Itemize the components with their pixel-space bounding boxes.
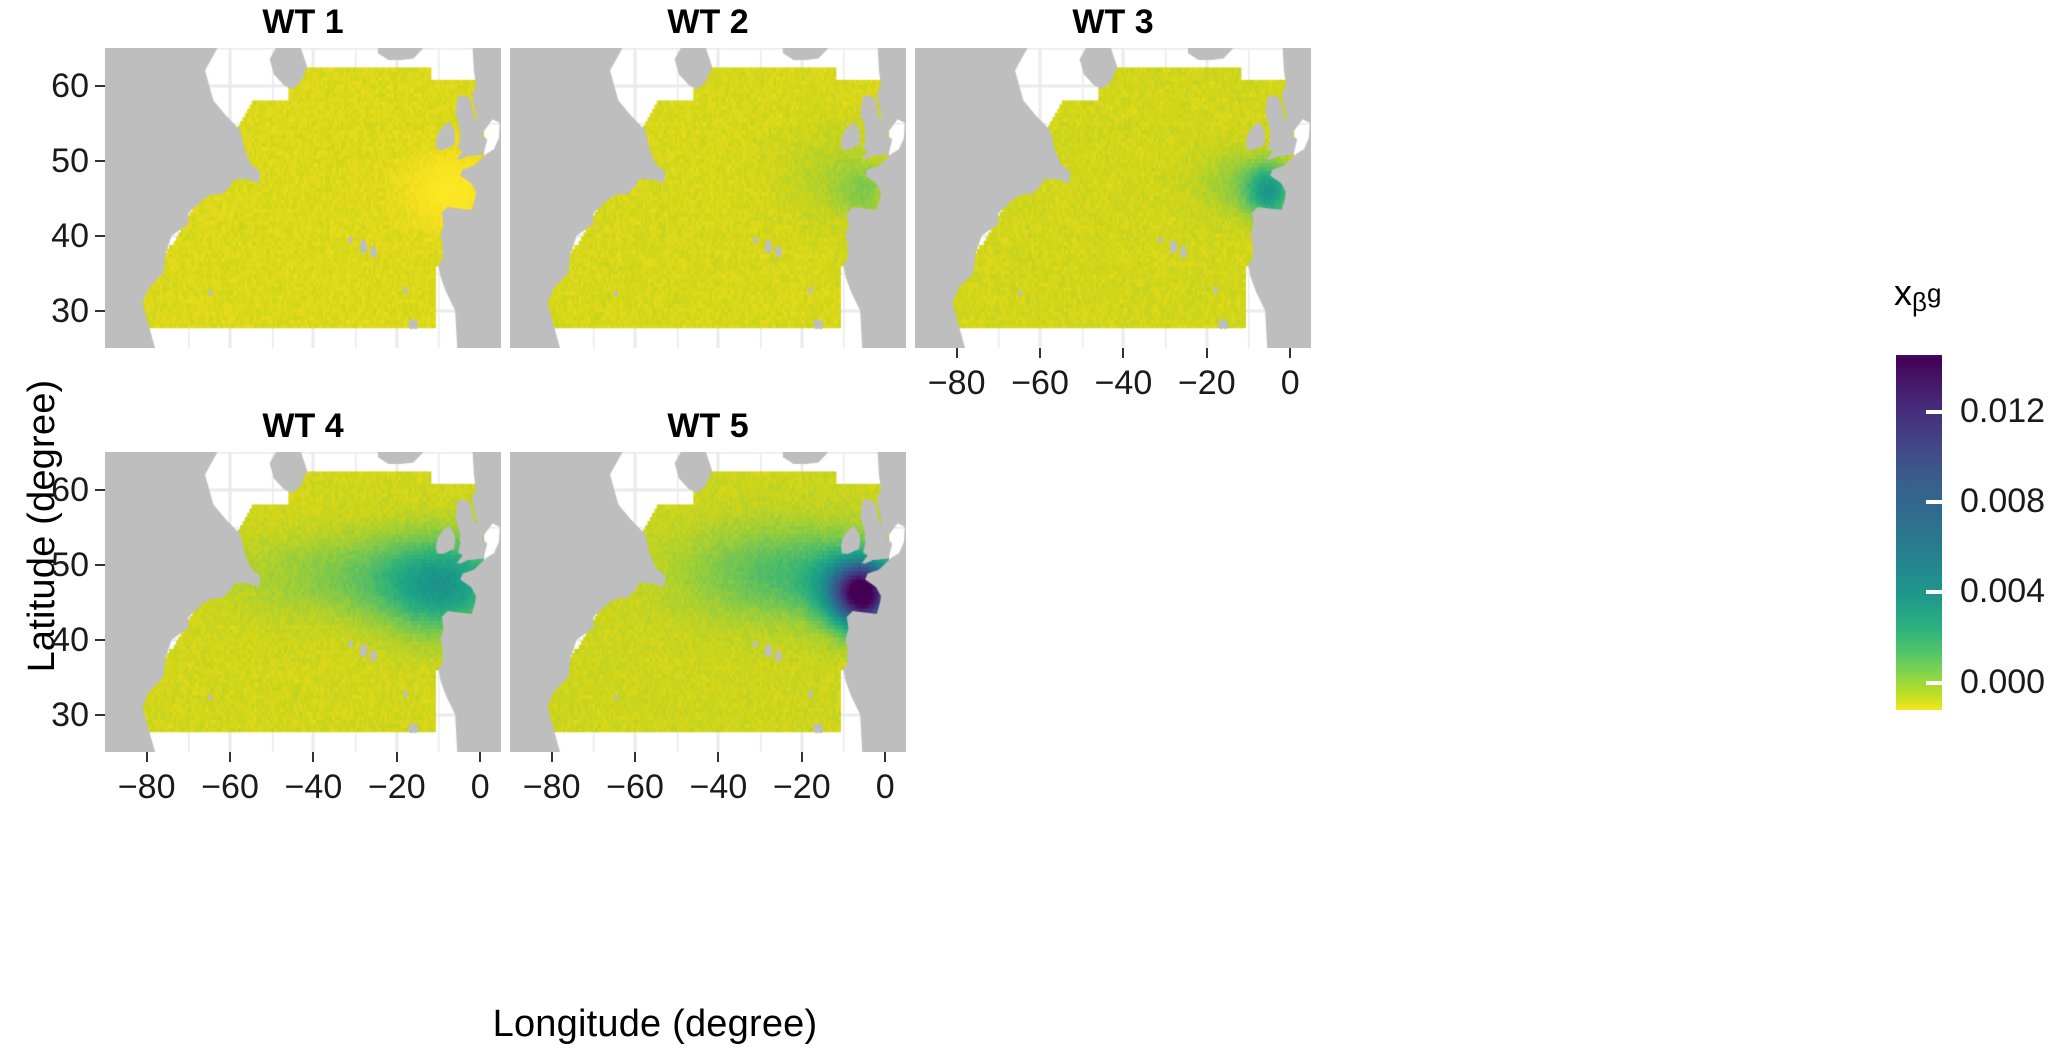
x-tick-mark — [1289, 348, 1291, 358]
y-tick-mark — [95, 489, 105, 491]
colorbar-tick-label-0: 0.012 — [1960, 394, 2045, 428]
panel-wt-1: WT 1 — [105, 48, 501, 348]
panel-title-wt-4: WT 4 — [105, 406, 501, 446]
map-plot-area-wt-3 — [915, 48, 1311, 348]
y-tick-label-top-30: 30 — [19, 294, 89, 328]
y-tick-mark — [95, 714, 105, 716]
colorbar-tick-mark-1 — [1926, 500, 1942, 504]
x-tick-mark — [551, 752, 553, 762]
map-plot-area-wt-4 — [105, 452, 501, 752]
y-tick-mark — [95, 564, 105, 566]
legend-title-main: x — [1894, 272, 1912, 313]
colorbar-tick-mark-3 — [1926, 681, 1942, 685]
y-tick-mark — [95, 235, 105, 237]
y-tick-label-top-50: 50 — [19, 144, 89, 178]
legend-title: xβg — [1894, 272, 1941, 318]
y-tick-mark — [95, 85, 105, 87]
y-tick-mark — [95, 639, 105, 641]
colorbar-tick-label-1: 0.008 — [1960, 484, 2045, 518]
x-tick-mark — [717, 752, 719, 762]
panel-title-wt-3: WT 3 — [915, 2, 1311, 42]
x-tick-mark — [479, 752, 481, 762]
legend-title-subscript: β — [1912, 287, 1927, 317]
map-plot-area-wt-5 — [510, 452, 906, 752]
legend-title-superscript: g — [1927, 278, 1941, 308]
colorbar-tick-mark-0 — [1926, 410, 1942, 414]
panel-title-wt-5: WT 5 — [510, 406, 906, 446]
x-tick-mark — [396, 752, 398, 762]
y-tick-label-bottom-50: 50 — [19, 548, 89, 582]
map-raster-wt-5 — [510, 452, 906, 752]
panel-wt-4: WT 4 — [105, 452, 501, 752]
y-tick-mark — [95, 160, 105, 162]
x-tick-mark — [229, 752, 231, 762]
colorbar-tick-label-3: 0.000 — [1960, 665, 2045, 699]
x-tick-mark — [1039, 348, 1041, 358]
x-axis-title: Longitude (degree) — [110, 1000, 1200, 1048]
x-tick-mark — [884, 752, 886, 762]
y-tick-label-top-40: 40 — [19, 219, 89, 253]
map-raster-wt-1 — [105, 48, 501, 348]
panel-title-wt-1: WT 1 — [105, 2, 501, 42]
colorbar-tick-mark-2 — [1926, 590, 1942, 594]
x-tick-mark — [1206, 348, 1208, 358]
x-tick-mark — [634, 752, 636, 762]
y-tick-label-top-60: 60 — [19, 69, 89, 103]
x-tick-mark — [146, 752, 148, 762]
panel-wt-3: WT 3 — [915, 48, 1311, 348]
x-tick-mark — [956, 348, 958, 358]
colorbar-gradient — [1896, 355, 1942, 710]
x-tick-label-wt5-4: 0 — [830, 770, 940, 804]
panel-wt-5: WT 5 — [510, 452, 906, 752]
map-plot-area-wt-1 — [105, 48, 501, 348]
x-tick-label-wt3-4: 0 — [1235, 366, 1345, 400]
panel-wt-2: WT 2 — [510, 48, 906, 348]
map-raster-wt-3 — [915, 48, 1311, 348]
map-raster-wt-2 — [510, 48, 906, 348]
x-tick-mark — [312, 752, 314, 762]
facet-map-figure: Latitude (degree) Longitude (degree) WT … — [0, 0, 2067, 1052]
y-tick-label-bottom-60: 60 — [19, 473, 89, 507]
y-tick-label-bottom-40: 40 — [19, 623, 89, 657]
map-raster-wt-4 — [105, 452, 501, 752]
y-tick-label-bottom-30: 30 — [19, 698, 89, 732]
map-plot-area-wt-2 — [510, 48, 906, 348]
colorbar-tick-label-2: 0.004 — [1960, 574, 2045, 608]
y-tick-mark — [95, 310, 105, 312]
panel-title-wt-2: WT 2 — [510, 2, 906, 42]
x-tick-mark — [1122, 348, 1124, 358]
x-tick-mark — [801, 752, 803, 762]
